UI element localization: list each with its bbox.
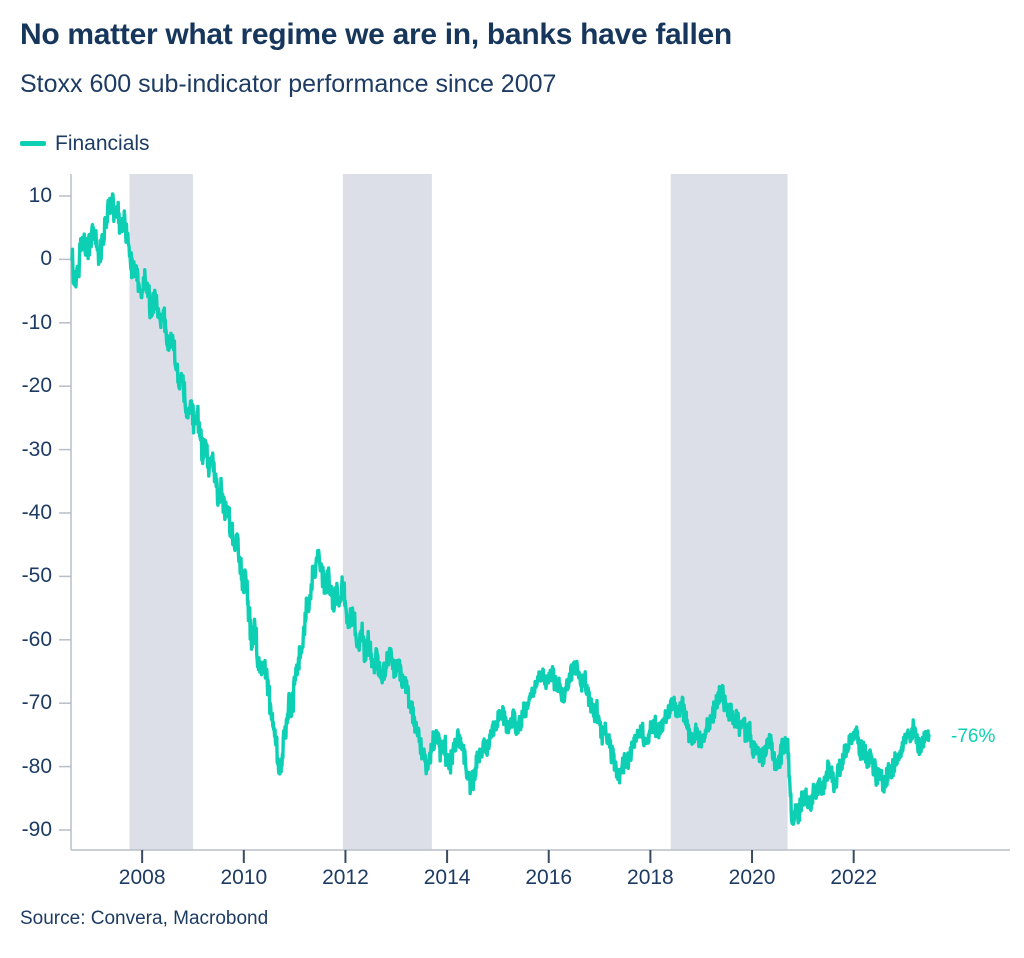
source-note: Source: Convera, Macrobond [20, 908, 268, 930]
shaded-band-2 [343, 174, 432, 850]
y-tick-label: -90 [0, 818, 52, 842]
y-tick-label: -40 [0, 501, 52, 525]
y-tick-label: -10 [0, 311, 52, 335]
y-tick-label: -80 [0, 755, 52, 779]
x-tick-label: 2020 [712, 866, 792, 890]
series-end-value-label: -76% [951, 726, 995, 748]
series-line-financials [72, 194, 929, 824]
line-chart-plot [0, 0, 1024, 958]
y-tick-label: -20 [0, 374, 52, 398]
y-tick-label: 10 [0, 184, 52, 208]
x-tick-label: 2014 [407, 866, 487, 890]
x-tick-label: 2016 [509, 866, 589, 890]
x-tick-label: 2018 [610, 866, 690, 890]
y-tick-label: -60 [0, 628, 52, 652]
chart-root: No matter what regime we are in, banks h… [0, 0, 1024, 958]
y-tick-label: -70 [0, 691, 52, 715]
x-tick-label: 2012 [305, 866, 385, 890]
x-tick-label: 2010 [204, 866, 284, 890]
y-tick-label: -30 [0, 438, 52, 462]
y-tick-label: -50 [0, 564, 52, 588]
x-tick-label: 2022 [814, 866, 894, 890]
y-tick-label: 0 [0, 247, 52, 271]
x-tick-label: 2008 [102, 866, 182, 890]
